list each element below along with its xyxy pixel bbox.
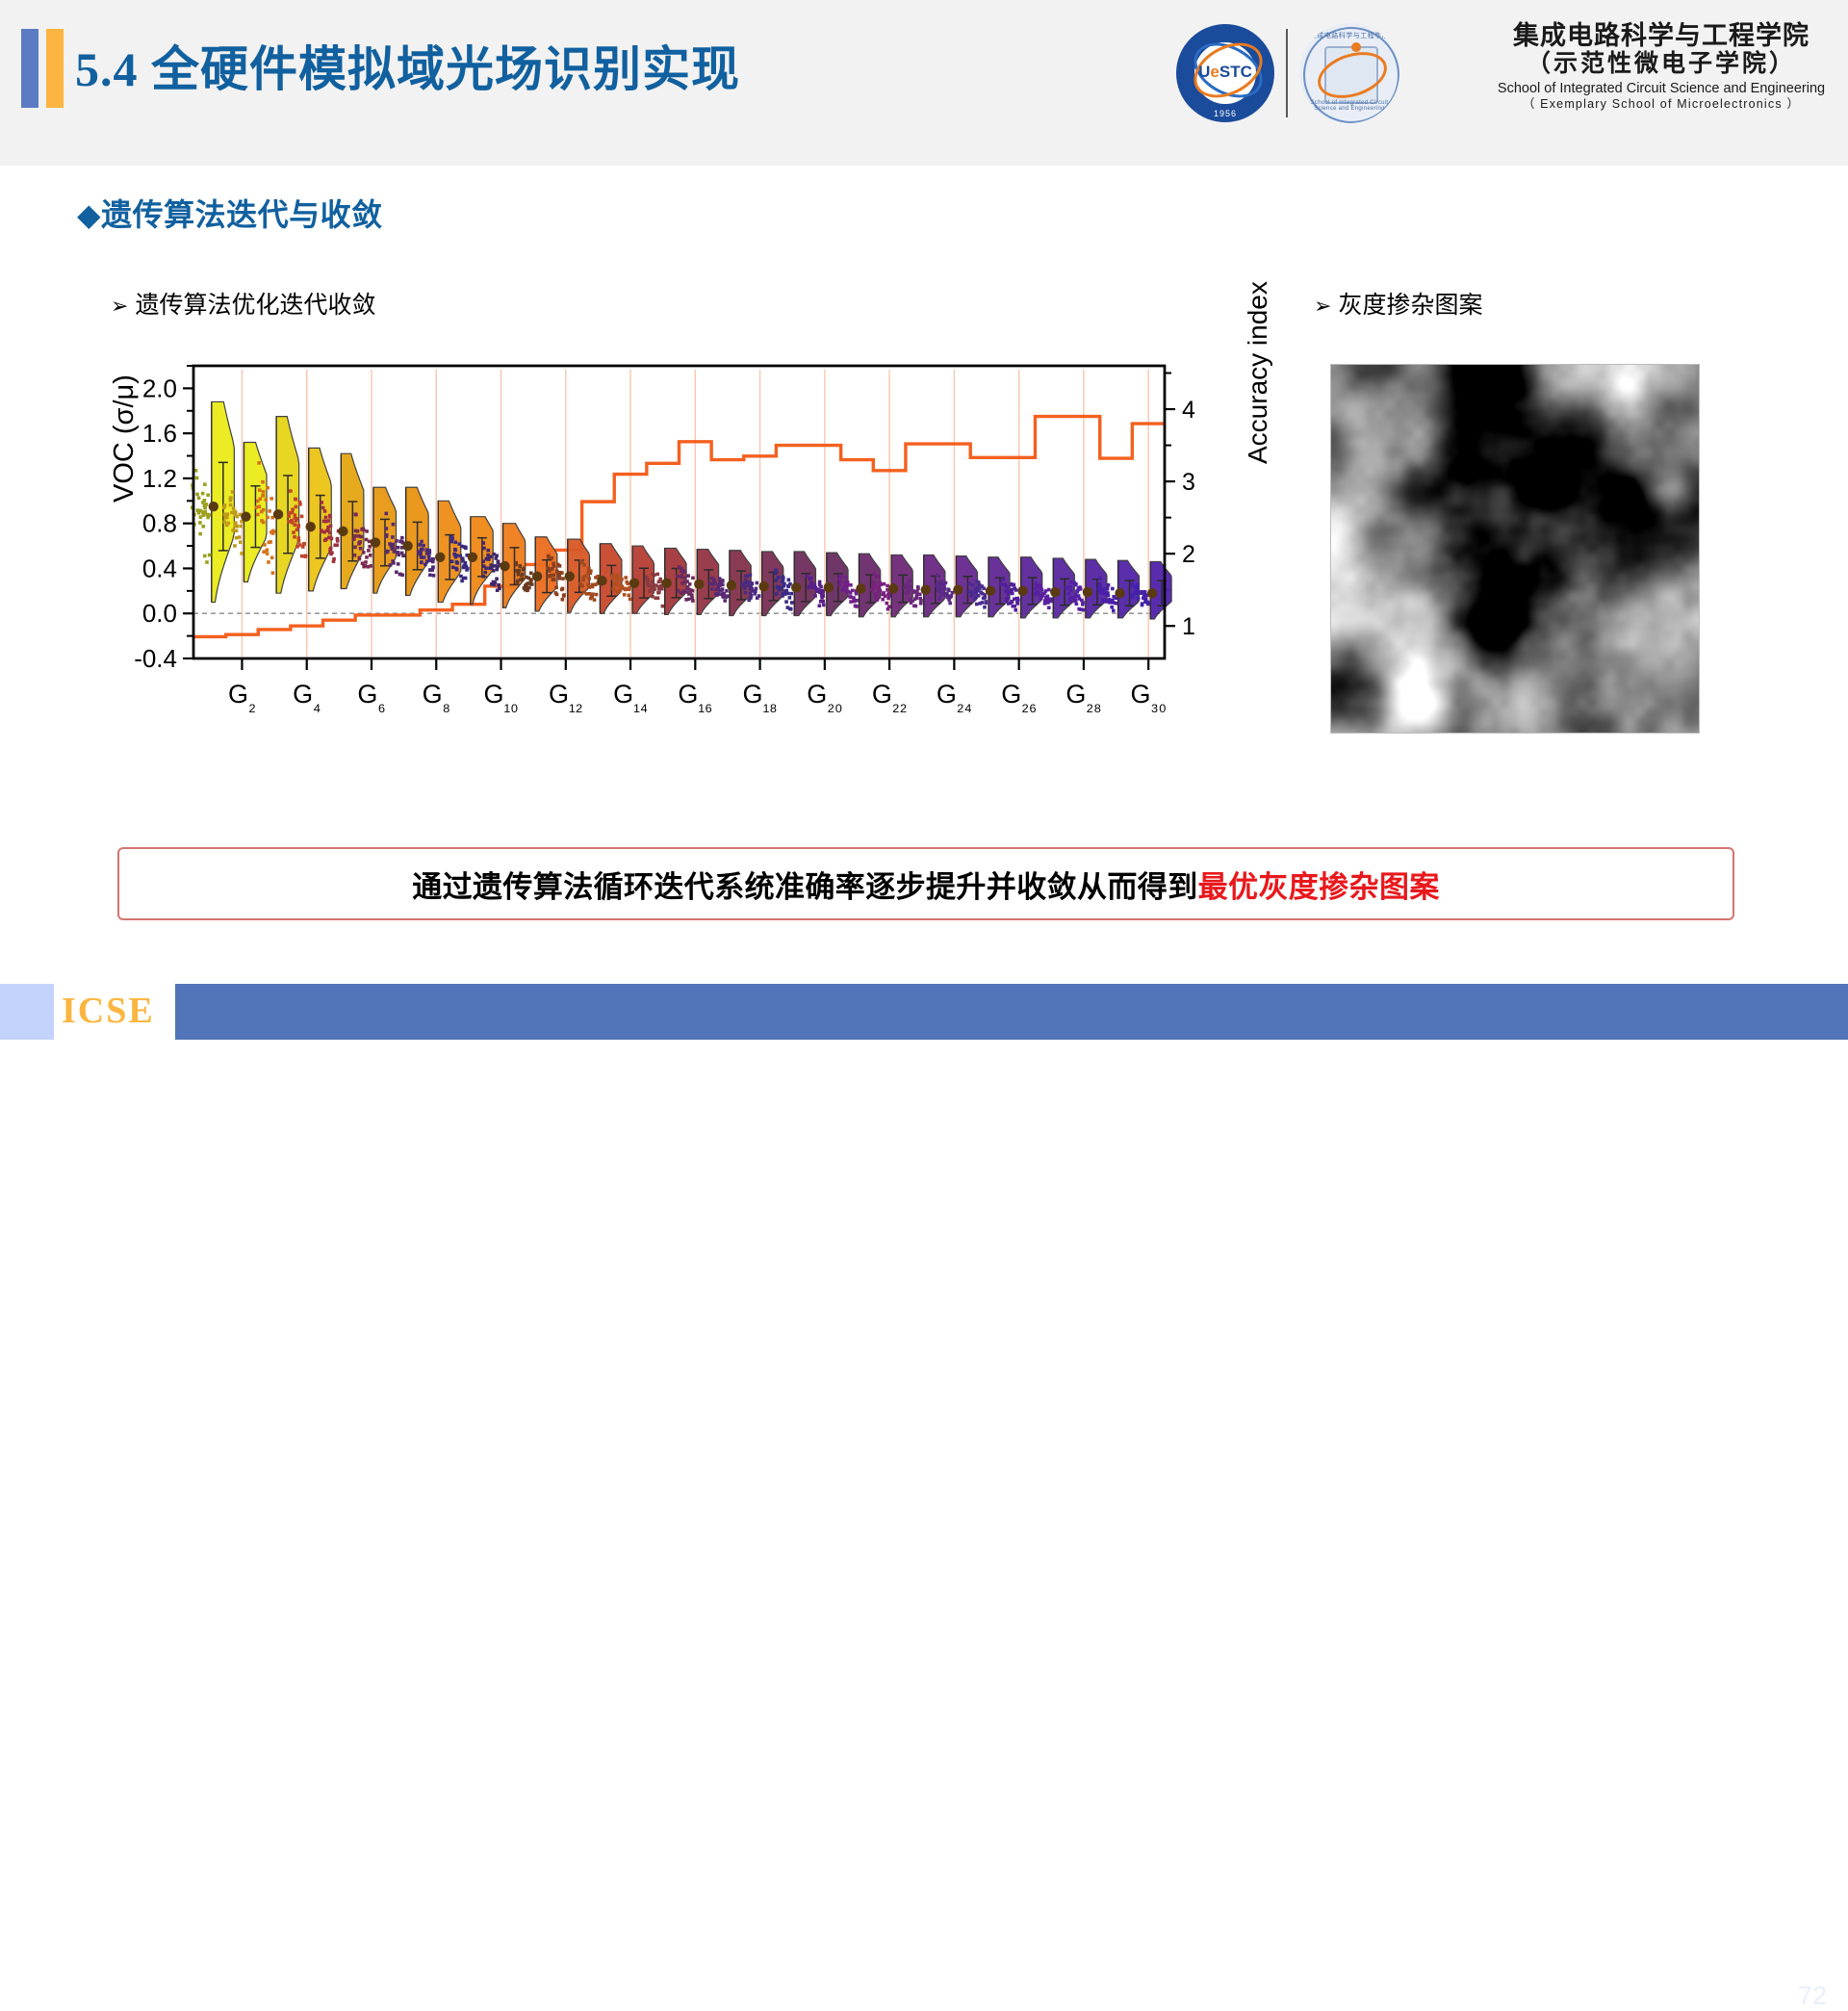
svg-text:G₁₄: G₁₄ (613, 680, 648, 715)
svg-text:G₁₈: G₁₈ (743, 680, 778, 715)
svg-text:G₂₀: G₂₀ (807, 680, 842, 715)
icse-logo-ring-text-en: School of Integrated Circuit Science and… (1299, 100, 1399, 112)
subheading-right-label: 灰度掺杂图案 (1338, 292, 1482, 319)
conclusion-part2: 遗传算法循环迭代 (473, 870, 714, 904)
conclusion-part4-highlight: 最优灰度掺杂图案 (1198, 870, 1440, 904)
subheading-right: ➢灰度掺杂图案 (1314, 286, 1482, 321)
org-subname-en: （ Exemplary School of Microelectronics ） (1482, 97, 1840, 113)
org-name-en: School of Integrated Circuit Science and… (1482, 80, 1840, 97)
page-title-number: 5.4 (75, 42, 139, 96)
svg-text:G₁₂: G₁₂ (549, 680, 583, 715)
svg-text:G₂₆: G₂₆ (1001, 680, 1037, 715)
slide-header: 5.4 全硬件模拟域光场识别实现 UeSTC 1956 集成电路科学与工程学院 … (0, 0, 1848, 166)
svg-text:G₂: G₂ (228, 680, 256, 715)
svg-text:4: 4 (1182, 397, 1195, 424)
org-subname-cn: （示范性微电子学院） (1482, 50, 1840, 78)
svg-text:G₂₂: G₂₂ (872, 680, 908, 715)
svg-text:G₆: G₆ (357, 680, 385, 715)
logo-divider (1286, 29, 1288, 117)
grayscale-doping-pattern-image (1330, 364, 1700, 734)
icse-logo-icon: 集成电路科学与工程学院 School of Integrated Circuit… (1299, 23, 1399, 123)
svg-text:1.6: 1.6 (142, 419, 177, 448)
uestc-logo-year: 1956 (1176, 109, 1274, 118)
chart-y-axis-label: VOC (σ/μ) (109, 374, 141, 503)
svg-text:G₁₆: G₁₆ (678, 680, 712, 715)
svg-text:2: 2 (1182, 541, 1195, 568)
svg-text:G₂₈: G₂₈ (1065, 680, 1101, 715)
footer-accent-block (0, 984, 54, 1040)
arrow-right-icon: ➢ (111, 294, 128, 318)
logo-group: UeSTC 1956 集成电路科学与工程学院 School of Integra… (1176, 21, 1399, 125)
svg-text:1: 1 (1182, 613, 1195, 640)
svg-text:G₈: G₈ (423, 680, 450, 715)
page-number: 72 (1798, 1981, 1827, 2011)
svg-text:0.8: 0.8 (142, 509, 177, 538)
svg-text:-0.4: -0.4 (134, 644, 177, 673)
section-heading: ◆遗传算法迭代与收敛 (77, 191, 383, 235)
header-accent-bar-blue (21, 29, 38, 108)
convergence-chart: VOC (σ/μ) Accuracy index 2.01.61.20.80.4… (111, 358, 1266, 753)
chart-y2-axis-label: Accuracy index (1243, 281, 1273, 464)
uestc-logo-icon: UeSTC 1956 (1176, 24, 1274, 122)
chart-canvas: 2.01.61.20.80.40.0-0.44321G₂G₄G₆G₈G₁₀G₁₂… (111, 358, 1266, 753)
organization-block: 集成电路科学与工程学院 （示范性微电子学院） School of Integra… (1482, 21, 1840, 113)
conclusion-part3: 系统准确率逐步提升并收敛从而得到 (714, 870, 1197, 904)
header-accent-bar-gold (46, 29, 64, 108)
svg-text:1.2: 1.2 (142, 464, 177, 493)
page-title: 5.4 全硬件模拟域光场识别实现 (75, 31, 740, 100)
svg-text:0.0: 0.0 (142, 599, 177, 628)
org-name-cn: 集成电路科学与工程学院 (1482, 21, 1840, 50)
svg-text:G₂₄: G₂₄ (937, 680, 972, 715)
conclusion-part1: 通过 (412, 870, 473, 904)
slide: 5.4 全硬件模拟域光场识别实现 UeSTC 1956 集成电路科学与工程学院 … (0, 0, 1848, 1040)
section-bullet-icon: ◆ (77, 197, 101, 232)
subheading-left-label: 遗传算法优化迭代收敛 (135, 292, 375, 319)
icse-logo-ring-text: 集成电路科学与工程学院 (1299, 31, 1399, 40)
svg-text:G₃₀: G₃₀ (1130, 680, 1166, 715)
conclusion-text: 通过遗传算法循环迭代系统准确率逐步提升并收敛从而得到最优灰度掺杂图案 (412, 863, 1440, 906)
arrow-right-icon-2: ➢ (1314, 294, 1331, 318)
section-heading-label: 遗传算法迭代与收敛 (101, 197, 383, 232)
svg-text:G₁₀: G₁₀ (483, 680, 518, 715)
svg-text:3: 3 (1182, 469, 1195, 496)
svg-text:2.0: 2.0 (142, 374, 177, 402)
svg-text:0.4: 0.4 (142, 554, 177, 582)
uestc-logo-text: UeSTC (1176, 63, 1274, 82)
svg-text:G₄: G₄ (293, 680, 321, 715)
subheading-left: ➢遗传算法优化迭代收敛 (111, 286, 375, 321)
footer-bar: 72 (175, 984, 1848, 1040)
page-title-text: 全硬件模拟域光场识别实现 (151, 42, 740, 96)
footer-brand: ICSE (62, 990, 155, 1032)
conclusion-callout: 通过遗传算法循环迭代系统准确率逐步提升并收敛从而得到最优灰度掺杂图案 (117, 847, 1734, 920)
